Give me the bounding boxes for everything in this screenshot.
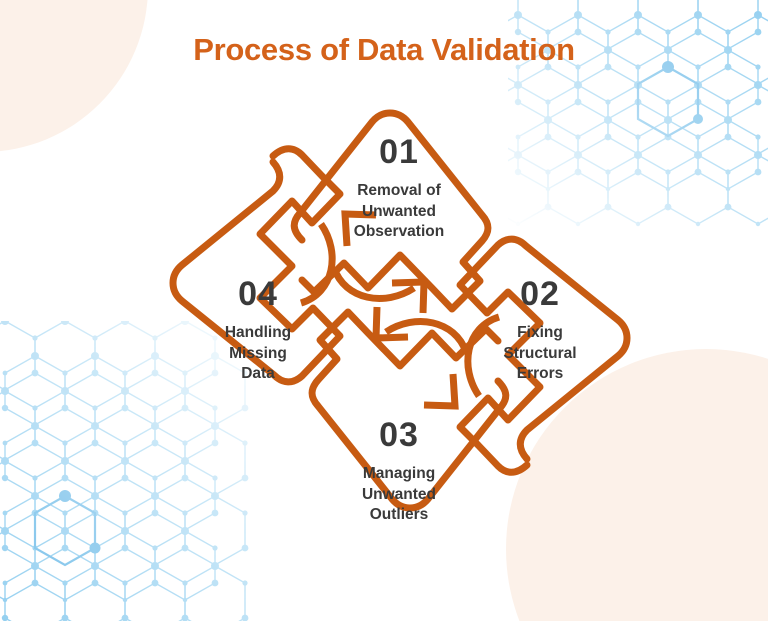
step-03-label: Managing Unwanted Outliers <box>309 464 489 526</box>
infographic-canvas: Process of Data Validation <box>0 0 768 621</box>
step-02-label: Fixing Structural Errors <box>450 323 630 385</box>
step-04-label: Handling Missing Data <box>168 323 348 385</box>
step-04: 04 Handling Missing Data <box>168 277 348 385</box>
step-02-label-line2: Structural <box>450 344 630 365</box>
step-01-label-line1: Removal of <box>309 181 489 202</box>
step-03: 03 Managing Unwanted Outliers <box>309 418 489 526</box>
cycle-diagram <box>0 0 768 621</box>
step-03-label-line2: Unwanted <box>309 485 489 506</box>
step-01-number: 01 <box>309 135 489 169</box>
step-02: 02 Fixing Structural Errors <box>450 277 630 385</box>
step-04-label-line1: Handling <box>168 323 348 344</box>
step-03-label-line3: Outliers <box>309 505 489 526</box>
step-02-label-line1: Fixing <box>450 323 630 344</box>
step-02-number: 02 <box>450 277 630 311</box>
step-01-label: Removal of Unwanted Observation <box>309 181 489 243</box>
step-04-number: 04 <box>168 277 348 311</box>
step-04-label-line2: Missing <box>168 344 348 365</box>
step-01-label-line3: Observation <box>309 222 489 243</box>
step-02-label-line3: Errors <box>450 364 630 385</box>
step-01: 01 Removal of Unwanted Observation <box>309 135 489 243</box>
step-03-label-line1: Managing <box>309 464 489 485</box>
step-04-label-line3: Data <box>168 364 348 385</box>
step-03-number: 03 <box>309 418 489 452</box>
step-01-label-line2: Unwanted <box>309 202 489 223</box>
